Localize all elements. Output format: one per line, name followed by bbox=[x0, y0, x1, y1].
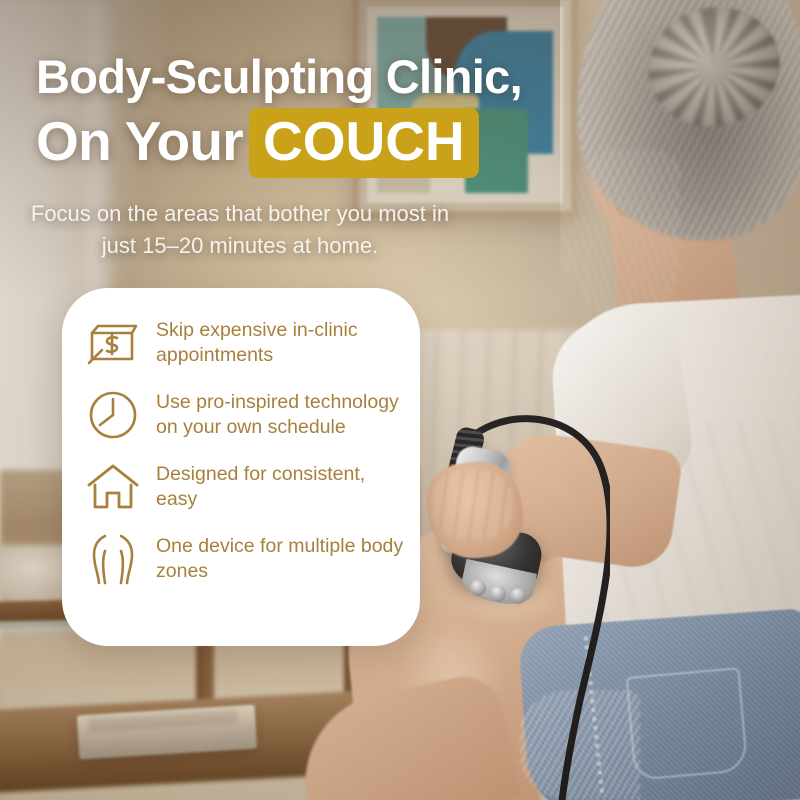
headline: Body-Sculpting Clinic, On YourCOUCH bbox=[36, 48, 596, 178]
clock-icon bbox=[84, 386, 142, 444]
benefits-list: Skip expensive in-clinic appointments Us… bbox=[84, 314, 408, 588]
benefit-item-schedule: Use pro-inspired technology on your own … bbox=[84, 386, 408, 444]
house-icon bbox=[84, 458, 142, 516]
benefit-item-body-zones: One device for multiple body zones bbox=[84, 530, 408, 588]
benefit-text: One device for multiple body zones bbox=[156, 530, 408, 584]
benefit-text: Use pro-inspired technology on your own … bbox=[156, 386, 408, 440]
headline-line-2-prefix: On Your bbox=[36, 110, 243, 172]
benefit-item-savings: Skip expensive in-clinic appointments bbox=[84, 314, 408, 372]
benefit-text: Skip expensive in-clinic appointments bbox=[156, 314, 408, 368]
subheadline: Focus on the areas that bother you most … bbox=[30, 198, 450, 262]
benefits-card: Skip expensive in-clinic appointments Us… bbox=[62, 288, 420, 646]
benefit-item-home: Designed for consistent, easy bbox=[84, 458, 408, 516]
body-zones-icon bbox=[84, 530, 142, 588]
money-wallet-dollar-icon bbox=[84, 314, 142, 372]
advertisement-canvas: Body-Sculpting Clinic, On YourCOUCH Focu… bbox=[0, 0, 800, 800]
headline-line-1: Body-Sculpting Clinic, bbox=[36, 50, 522, 103]
denim-pocket bbox=[626, 667, 749, 781]
headline-highlight-couch: COUCH bbox=[249, 108, 479, 178]
headline-line-2: On YourCOUCH bbox=[36, 108, 596, 178]
hand-knuckles bbox=[432, 470, 512, 540]
benefit-text: Designed for consistent, easy bbox=[156, 458, 408, 512]
